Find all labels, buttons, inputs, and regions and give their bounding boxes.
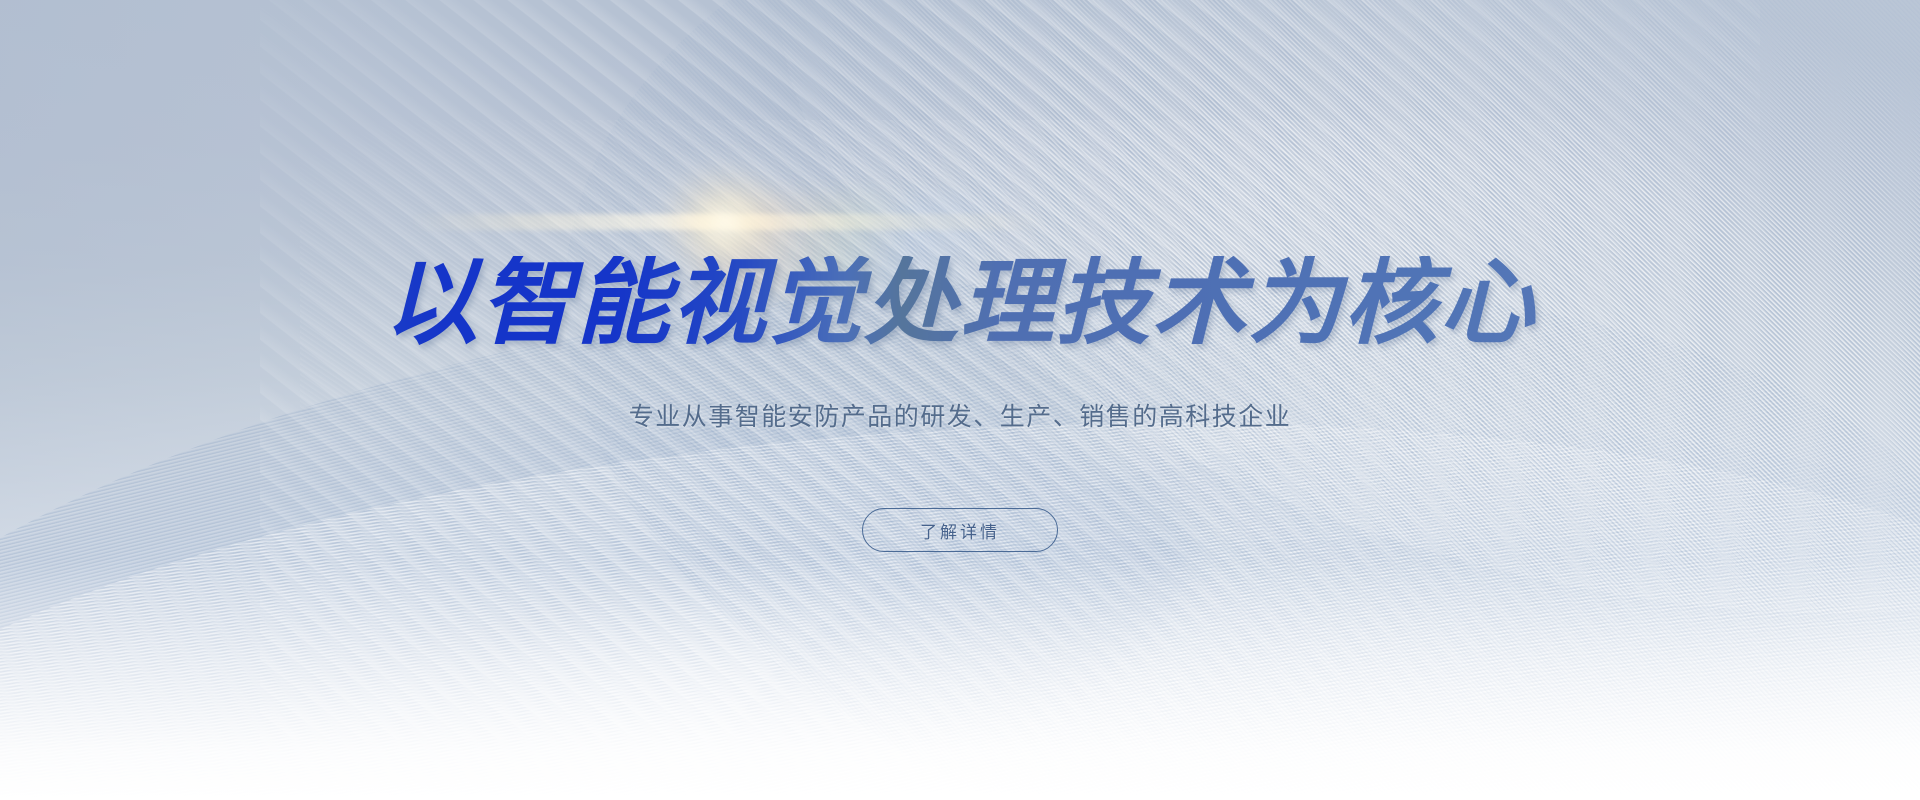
page-subtitle: 专业从事智能安防产品的研发、生产、销售的高科技企业	[0, 400, 1920, 435]
hero-content: 以智能视觉处理技术为核心 专业从事智能安防产品的研发、生产、销售的高科技企业 了…	[0, 0, 1920, 800]
page-title: 以智能视觉处理技术为核心	[0, 256, 1920, 350]
learn-more-button[interactable]: 了解详情	[862, 508, 1058, 552]
hero-banner: 以智能视觉处理技术为核心 专业从事智能安防产品的研发、生产、销售的高科技企业 了…	[0, 0, 1920, 800]
cta-container: 了解详情	[0, 508, 1920, 552]
